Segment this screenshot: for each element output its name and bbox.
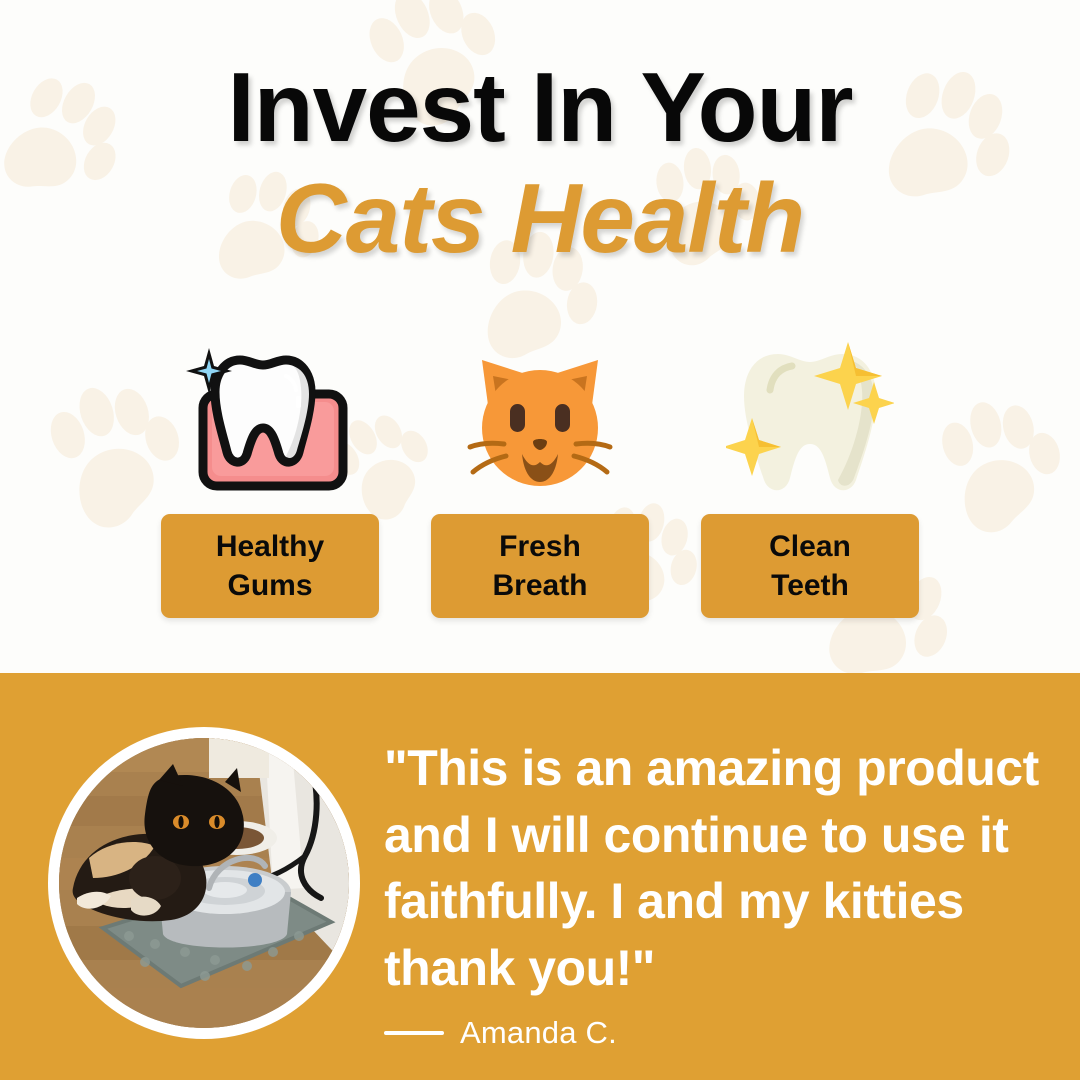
headline-line-2: Cats Health — [0, 166, 1080, 272]
tooth-in-gums-icon — [185, 340, 355, 496]
badge-label-line-1: Clean — [769, 527, 851, 566]
badge-healthy-gums[interactable]: Healthy Gums — [161, 514, 379, 618]
feature-fresh-breath[interactable]: Fresh Breath — [431, 336, 649, 618]
badge-clean-teeth[interactable]: Clean Teeth — [701, 514, 919, 618]
badge-label-line-2: Teeth — [771, 566, 849, 605]
headline-line-1: Invest In Your — [0, 58, 1080, 156]
testimonial-quote: "This is an amazing product and I will c… — [384, 735, 1056, 1001]
testimonial-banner: "This is an amazing product and I will c… — [0, 673, 1080, 1080]
testimonial-attribution: Amanda C. — [384, 1015, 1056, 1051]
avatar-ring — [48, 727, 360, 1039]
feature-healthy-gums[interactable]: Healthy Gums — [161, 336, 379, 618]
badge-label-line-2: Gums — [227, 566, 312, 605]
badge-label-line-1: Healthy — [216, 527, 324, 566]
poster-canvas: Invest In Your Cats Health — [0, 0, 1080, 1080]
badge-label-line-2: Breath — [492, 566, 587, 605]
icon-wrap — [431, 336, 649, 496]
quote-column: "This is an amazing product and I will c… — [384, 735, 1056, 1051]
headline-block: Invest In Your Cats Health — [0, 58, 1080, 272]
cat-drinking-photo-illustration — [59, 738, 349, 1028]
sparkling-tooth-icon — [726, 340, 894, 496]
feature-row: Healthy Gums — [0, 336, 1080, 618]
attribution-name: Amanda C. — [460, 1015, 617, 1051]
icon-wrap — [701, 336, 919, 496]
badge-fresh-breath[interactable]: Fresh Breath — [431, 514, 649, 618]
avatar — [59, 738, 349, 1028]
feature-clean-teeth[interactable]: Clean Teeth — [701, 336, 919, 618]
icon-wrap — [161, 336, 379, 496]
attribution-dash-rule — [384, 1031, 444, 1035]
cat-face-icon — [460, 346, 620, 496]
badge-label-line-1: Fresh — [499, 527, 581, 566]
